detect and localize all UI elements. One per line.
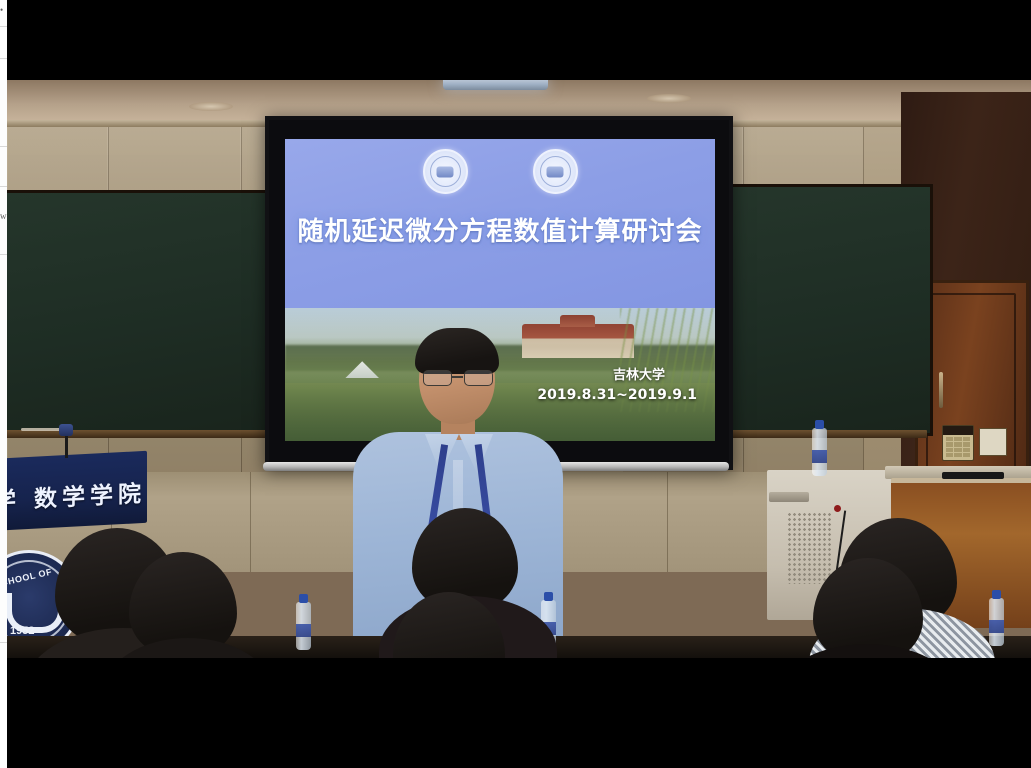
chalkboard-right xyxy=(707,184,933,436)
av-cabinet-slot xyxy=(769,492,809,502)
speaker-grille-icon xyxy=(787,512,833,584)
ceiling-light-icon xyxy=(189,102,233,111)
document-glyph-top: • xyxy=(0,6,3,15)
slide-host-institution: 吉林大学 xyxy=(613,364,665,383)
microphone-head-icon xyxy=(834,505,841,512)
slide-title: 随机延迟微分方程数值计算研讨会 xyxy=(285,211,715,248)
slide-emblems xyxy=(285,149,715,194)
water-bottle xyxy=(989,598,1004,646)
podium-microphone-head-icon xyxy=(59,424,73,436)
university-seal-icon xyxy=(423,149,468,194)
chalkboard-left xyxy=(7,190,283,436)
wall-seam xyxy=(667,472,668,572)
chalk-tray xyxy=(7,430,277,438)
photo-letterbox-frame: 随机延迟微分方程数值计算研讨会 吉林大学 2019.8.31~2019.9.1 xyxy=(7,0,1031,768)
wall-seam xyxy=(250,472,251,572)
conference-photo: 随机延迟微分方程数值计算研讨会 吉林大学 2019.8.31~2019.9.1 xyxy=(7,80,1031,658)
eyeglasses-icon xyxy=(423,370,493,385)
document-glyph: w xyxy=(0,212,7,221)
door-keypad[interactable] xyxy=(942,425,974,461)
screenshot-root: • w xyxy=(0,0,1031,768)
university-seal-icon xyxy=(533,149,578,194)
slide-header-band: 随机延迟微分方程数值计算研讨会 xyxy=(285,139,715,308)
water-bottle xyxy=(812,428,827,476)
speaker-hair xyxy=(415,328,499,374)
lectern-device xyxy=(942,472,1004,479)
ceiling-light-icon xyxy=(647,94,691,103)
door-handle-icon[interactable] xyxy=(939,372,943,408)
wall-card-reader[interactable] xyxy=(979,428,1007,456)
ceiling-light-fixture xyxy=(443,80,548,90)
water-bottle xyxy=(296,602,311,650)
